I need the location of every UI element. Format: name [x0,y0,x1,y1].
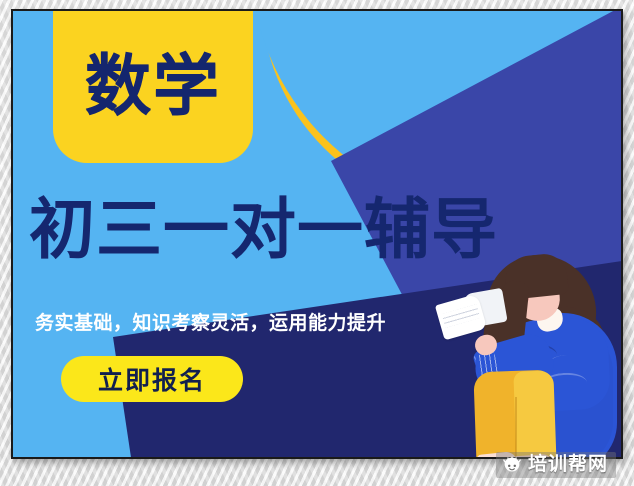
banner-headline: 初三一对一辅导 [29,197,621,263]
subject-badge-label: 数学 [85,53,221,119]
watermark-label: 培训帮网 [528,455,608,474]
enroll-now-button-label: 立即报名 [98,361,206,397]
banner-subtitle: 务实基础，知识考察灵活，运用能力提升 [35,308,386,335]
pants-highlight-shape [513,370,556,457]
pants-seam-shape [515,397,517,457]
sun-face-icon [502,456,522,474]
watermark: 培训帮网 [496,452,616,478]
page-backdrop: 数学 初三一对一辅导 务实基础，知识考察灵活，运用能力提升 立即报名 [0,0,634,486]
banner-frame: 数学 初三一对一辅导 务实基础，知识考察灵活，运用能力提升 立即报名 [11,9,623,459]
subject-badge: 数学 [53,11,253,163]
student-illustration [431,247,621,457]
enroll-now-button[interactable]: 立即报名 [61,356,243,402]
course-banner: 数学 初三一对一辅导 务实基础，知识考察灵活，运用能力提升 立即报名 [13,11,621,457]
